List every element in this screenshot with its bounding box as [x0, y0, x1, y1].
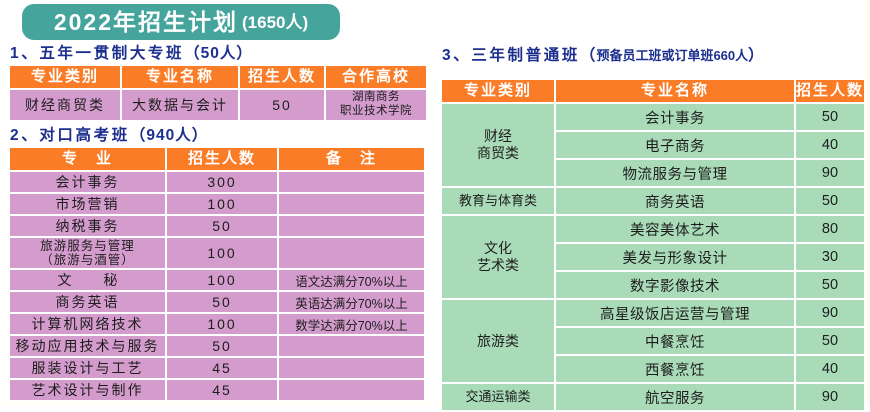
table-row: 计算机网络技术 100 数学达满分70%以上	[10, 314, 424, 334]
table2-cell-major: 会计事务	[10, 172, 165, 192]
table1-col-count: 招生人数	[240, 66, 324, 88]
table-row: 文 秘 100 语文达满分70%以上	[10, 270, 424, 290]
table2-cell-note: 数学达满分70%以上	[279, 314, 424, 334]
section1-heading-paren: （50人）	[184, 45, 253, 62]
table-row: 旅游服务与管理 （旅游与酒管） 100	[10, 238, 424, 268]
partner-line1: 湖南商务	[326, 91, 426, 105]
section1-heading: 1、五年一贯制大专班（50人）	[10, 46, 253, 62]
table3-col-major: 专业名称	[556, 80, 794, 102]
table2-cell-count: 50	[167, 336, 277, 356]
section3-paren-open: （	[580, 47, 597, 64]
section3-paren-close: ）	[748, 47, 765, 64]
table3-cell-major: 美容美体艺术	[556, 216, 794, 242]
table3-cell-count: 50	[796, 188, 864, 214]
table3-cell-major: 中餐烹饪	[556, 328, 794, 354]
table2-cell-major: 文 秘	[10, 270, 165, 290]
table3-cell-count: 30	[796, 244, 864, 270]
table-three-year-program: 专业类别 专业名称 招生人数 财经 商贸类 会计事务 50 电子商务 40 物流…	[440, 78, 866, 412]
table3-cell-category: 旅游类	[442, 300, 554, 382]
table2-cell-count: 100	[167, 194, 277, 214]
category-line1: 财经	[442, 128, 554, 145]
section3-paren-note: 预备员工班或订单班660人	[596, 48, 748, 63]
table2-cell-note: 英语达满分70%以上	[279, 292, 424, 312]
table1-cell-count: 50	[240, 90, 324, 120]
poster-root: 2022年招生计划 (1650人) 1、五年一贯制大专班（50人） 专业类别 专…	[0, 0, 870, 405]
table-row: 移动应用技术与服务 50	[10, 336, 424, 356]
table3-cell-count: 50	[796, 328, 864, 354]
table3-cell-major: 高星级饭店运营与管理	[556, 300, 794, 326]
table2-col-count: 招生人数	[167, 148, 277, 170]
table3-cell-count: 80	[796, 216, 864, 242]
table3-cell-major: 西餐烹饪	[556, 356, 794, 382]
table-row: 服装设计与工艺 45	[10, 358, 424, 378]
banner-title: 2022年招生计划	[54, 11, 238, 34]
section3-heading-text: 3、三年制普通班	[442, 47, 580, 64]
table3-cell-category: 教育与体育类	[442, 188, 554, 214]
table2-cell-note	[279, 216, 424, 236]
table2-cell-note	[279, 336, 424, 356]
table3-cell-count: 50	[796, 272, 864, 298]
table1-col-category: 专业类别	[10, 66, 120, 88]
table1-col-major: 专业名称	[122, 66, 238, 88]
table2-cell-major: 移动应用技术与服务	[10, 336, 165, 356]
partner-line2: 职业技术学院	[326, 105, 426, 119]
table2-cell-major: 服装设计与工艺	[10, 358, 165, 378]
table3-cell-major: 会计事务	[556, 104, 794, 130]
title-banner: 2022年招生计划 (1650人)	[22, 4, 340, 40]
section1-heading-text: 1、五年一贯制大专班	[10, 45, 184, 62]
table2-cell-note	[279, 172, 424, 192]
table2-cell-count: 45	[167, 358, 277, 378]
table-row: 财经商贸类 大数据与会计 50 湖南商务 职业技术学院	[10, 90, 426, 120]
table-row: 商务英语 50 英语达满分70%以上	[10, 292, 424, 312]
table1-cell-major: 大数据与会计	[122, 90, 238, 120]
category-line1: 交通运输类	[442, 389, 554, 405]
table2-cell-count: 100	[167, 270, 277, 290]
table2-cell-note	[279, 238, 424, 268]
table3-cell-count: 40	[796, 132, 864, 158]
table2-cell-note: 语文达满分70%以上	[279, 270, 424, 290]
table2-cell-major: 商务英语	[10, 292, 165, 312]
major-line1: 旅游服务与管理	[10, 239, 165, 253]
section2-heading-text: 2、对口高考班	[10, 127, 130, 144]
table-row: 艺术设计与制作 45	[10, 380, 424, 400]
table-row: 教育与体育类 商务英语 50	[442, 188, 864, 214]
table3-col-count: 招生人数	[796, 80, 864, 102]
table-five-year-program: 专业类别 专业名称 招生人数 合作高校 财经商贸类 大数据与会计 50 湖南商务…	[8, 64, 428, 122]
table3-cell-major: 数字影像技术	[556, 272, 794, 298]
table3-cell-category: 文化 艺术类	[442, 216, 554, 298]
table2-cell-count: 100	[167, 314, 277, 334]
table3-cell-count: 40	[796, 356, 864, 382]
table2-cell-count: 50	[167, 216, 277, 236]
table2-cell-count: 100	[167, 238, 277, 268]
table3-cell-major: 物流服务与管理	[556, 160, 794, 186]
table-row: 旅游类 高星级饭店运营与管理 90	[442, 300, 864, 326]
table3-cell-major: 美发与形象设计	[556, 244, 794, 270]
category-line1: 教育与体育类	[442, 193, 554, 209]
table3-header-row: 专业类别 专业名称 招生人数	[442, 80, 864, 102]
table3-cell-major: 电子商务	[556, 132, 794, 158]
table1-header-row: 专业类别 专业名称 招生人数 合作高校	[10, 66, 426, 88]
table3-col-category: 专业类别	[442, 80, 554, 102]
section2-heading: 2、对口高考班（940人）	[10, 128, 208, 144]
table2-cell-major: 计算机网络技术	[10, 314, 165, 334]
table3-cell-count: 90	[796, 300, 864, 326]
category-line2: 艺术类	[442, 257, 554, 274]
category-line1: 文化	[442, 240, 554, 257]
table-row: 市场营销 100	[10, 194, 424, 214]
table2-cell-major: 市场营销	[10, 194, 165, 214]
category-line1: 旅游类	[442, 333, 554, 350]
table3-cell-major: 航空服务	[556, 384, 794, 410]
table2-cell-major: 纳税事务	[10, 216, 165, 236]
table3-cell-category: 交通运输类	[442, 384, 554, 410]
table2-cell-note	[279, 358, 424, 378]
table3-cell-major: 商务英语	[556, 188, 794, 214]
table-row: 纳税事务 50	[10, 216, 424, 236]
table-vocational-exam-program: 专 业 招生人数 备 注 会计事务 300 市场营销 100 纳税事务 50	[8, 146, 426, 402]
table-row: 会计事务 300	[10, 172, 424, 192]
table2-cell-major: 旅游服务与管理 （旅游与酒管）	[10, 238, 165, 268]
table1-col-partner: 合作高校	[326, 66, 426, 88]
major-line2: （旅游与酒管）	[10, 253, 165, 267]
table2-col-note: 备 注	[279, 148, 424, 170]
table-row: 文化 艺术类 美容美体艺术 80	[442, 216, 864, 242]
table1-cell-partner: 湖南商务 职业技术学院	[326, 90, 426, 120]
table3-cell-count: 90	[796, 384, 864, 410]
table2-cell-count: 45	[167, 380, 277, 400]
table2-cell-note	[279, 194, 424, 214]
section2-heading-paren: （940人）	[130, 127, 208, 144]
table3-cell-category: 财经 商贸类	[442, 104, 554, 186]
table2-col-major: 专 业	[10, 148, 165, 170]
category-line2: 商贸类	[442, 145, 554, 162]
table3-cell-count: 90	[796, 160, 864, 186]
table2-cell-note	[279, 380, 424, 400]
table3-cell-count: 50	[796, 104, 864, 130]
table-row: 交通运输类 航空服务 90	[442, 384, 864, 410]
table-row: 财经 商贸类 会计事务 50	[442, 104, 864, 130]
section3-heading: 3、三年制普通班（预备员工班或订单班660人）	[442, 48, 765, 64]
table2-cell-count: 300	[167, 172, 277, 192]
table1-cell-category: 财经商贸类	[10, 90, 120, 120]
table2-cell-major: 艺术设计与制作	[10, 380, 165, 400]
table2-cell-count: 50	[167, 292, 277, 312]
table2-header-row: 专 业 招生人数 备 注	[10, 148, 424, 170]
banner-subtitle: (1650人)	[242, 14, 308, 31]
